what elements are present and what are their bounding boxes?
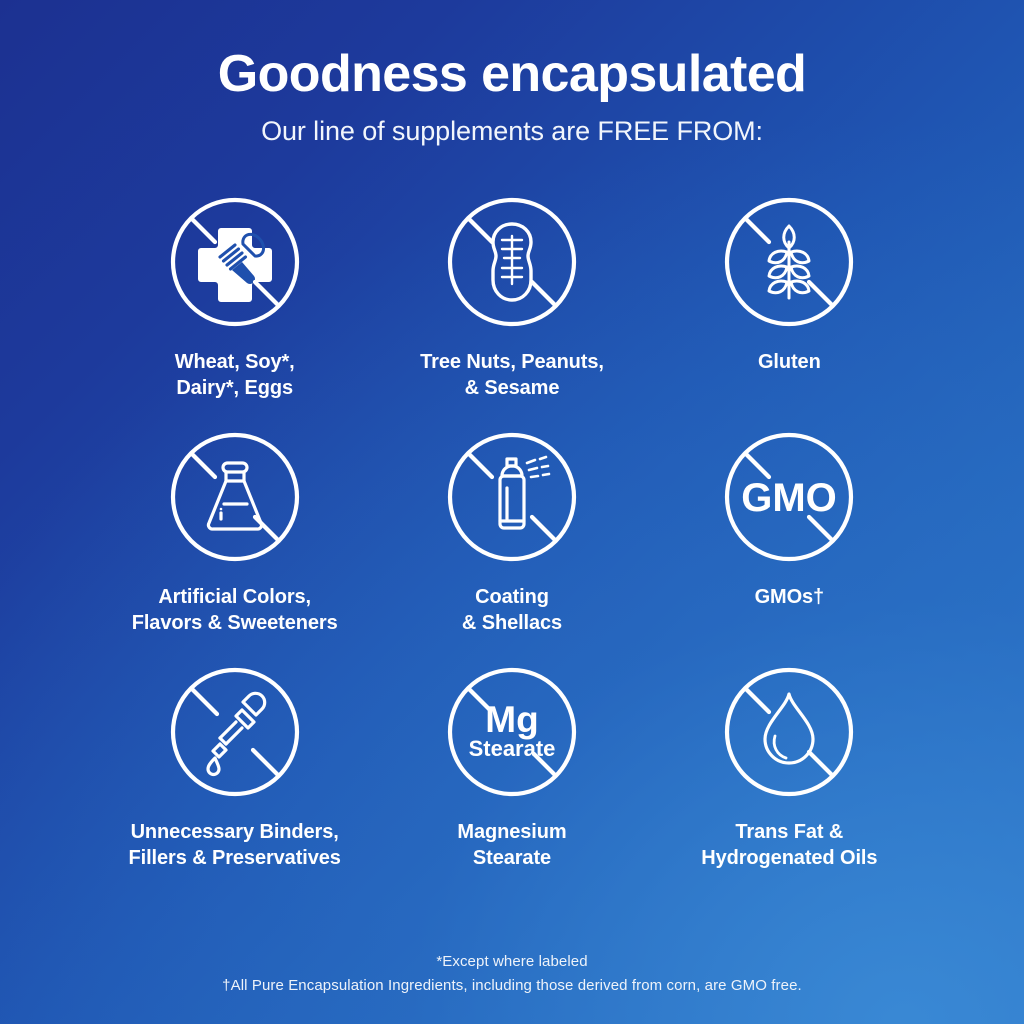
free-from-grid: Wheat, Soy*, Dairy*, Eggs <box>0 196 1024 901</box>
grid-cell: Gluten <box>651 196 928 431</box>
grid-cell: Trans Fat & Hydrogenated Oils <box>651 666 928 901</box>
cell-label: Magnesium Stearate <box>457 819 566 871</box>
grid-cell: Wheat, Soy*, Dairy*, Eggs <box>96 196 373 431</box>
no-coating-shellacs-icon <box>446 431 578 563</box>
page-subtitle: Our line of supplements are FREE FROM: <box>0 116 1024 147</box>
cell-label: Artificial Colors, Flavors & Sweeteners <box>132 584 338 636</box>
footnote-dagger: †All Pure Encapsulation Ingredients, inc… <box>0 974 1024 998</box>
no-binders-fillers-preservatives-icon <box>169 666 301 798</box>
header: Goodness encapsulated Our line of supple… <box>0 0 1024 147</box>
cell-label: Tree Nuts, Peanuts, & Sesame <box>420 349 604 401</box>
grid-cell: Artificial Colors, Flavors & Sweeteners <box>96 431 373 666</box>
grid-cell: Mg Stearate Magnesium Stearate <box>373 666 650 901</box>
no-tree-nuts-peanuts-sesame-icon <box>446 196 578 328</box>
no-magnesium-stearate-icon: Mg Stearate <box>446 666 578 798</box>
stearate-glyph-text: Stearate <box>469 736 556 761</box>
cell-label: Trans Fat & Hydrogenated Oils <box>701 819 877 871</box>
no-wheat-soy-dairy-eggs-icon <box>169 196 301 328</box>
grid-cell: Unnecessary Binders, Fillers & Preservat… <box>96 666 373 901</box>
cell-label: Coating & Shellacs <box>462 584 562 636</box>
no-artificial-colors-icon <box>169 431 301 563</box>
gmo-glyph-text: GMO <box>742 476 838 520</box>
cell-label: Wheat, Soy*, Dairy*, Eggs <box>175 349 295 401</box>
grid-cell: Tree Nuts, Peanuts, & Sesame <box>373 196 650 431</box>
poster: Goodness encapsulated Our line of supple… <box>0 0 1024 1024</box>
footnote-asterisk: *Except where labeled <box>0 950 1024 974</box>
no-trans-fat-hydrogenated-oils-icon <box>723 666 855 798</box>
no-gmo-icon: GMO <box>723 431 855 563</box>
mg-glyph-text: Mg <box>485 699 538 740</box>
grid-cell: GMO GMOs† <box>651 431 928 666</box>
cell-label: GMOs† <box>755 584 825 610</box>
page-title: Goodness encapsulated <box>0 46 1024 102</box>
cell-label: Unnecessary Binders, Fillers & Preservat… <box>129 819 341 871</box>
footnotes: *Except where labeled †All Pure Encapsul… <box>0 950 1024 998</box>
no-gluten-icon <box>723 196 855 328</box>
grid-cell: Coating & Shellacs <box>373 431 650 666</box>
cell-label: Gluten <box>758 349 821 375</box>
